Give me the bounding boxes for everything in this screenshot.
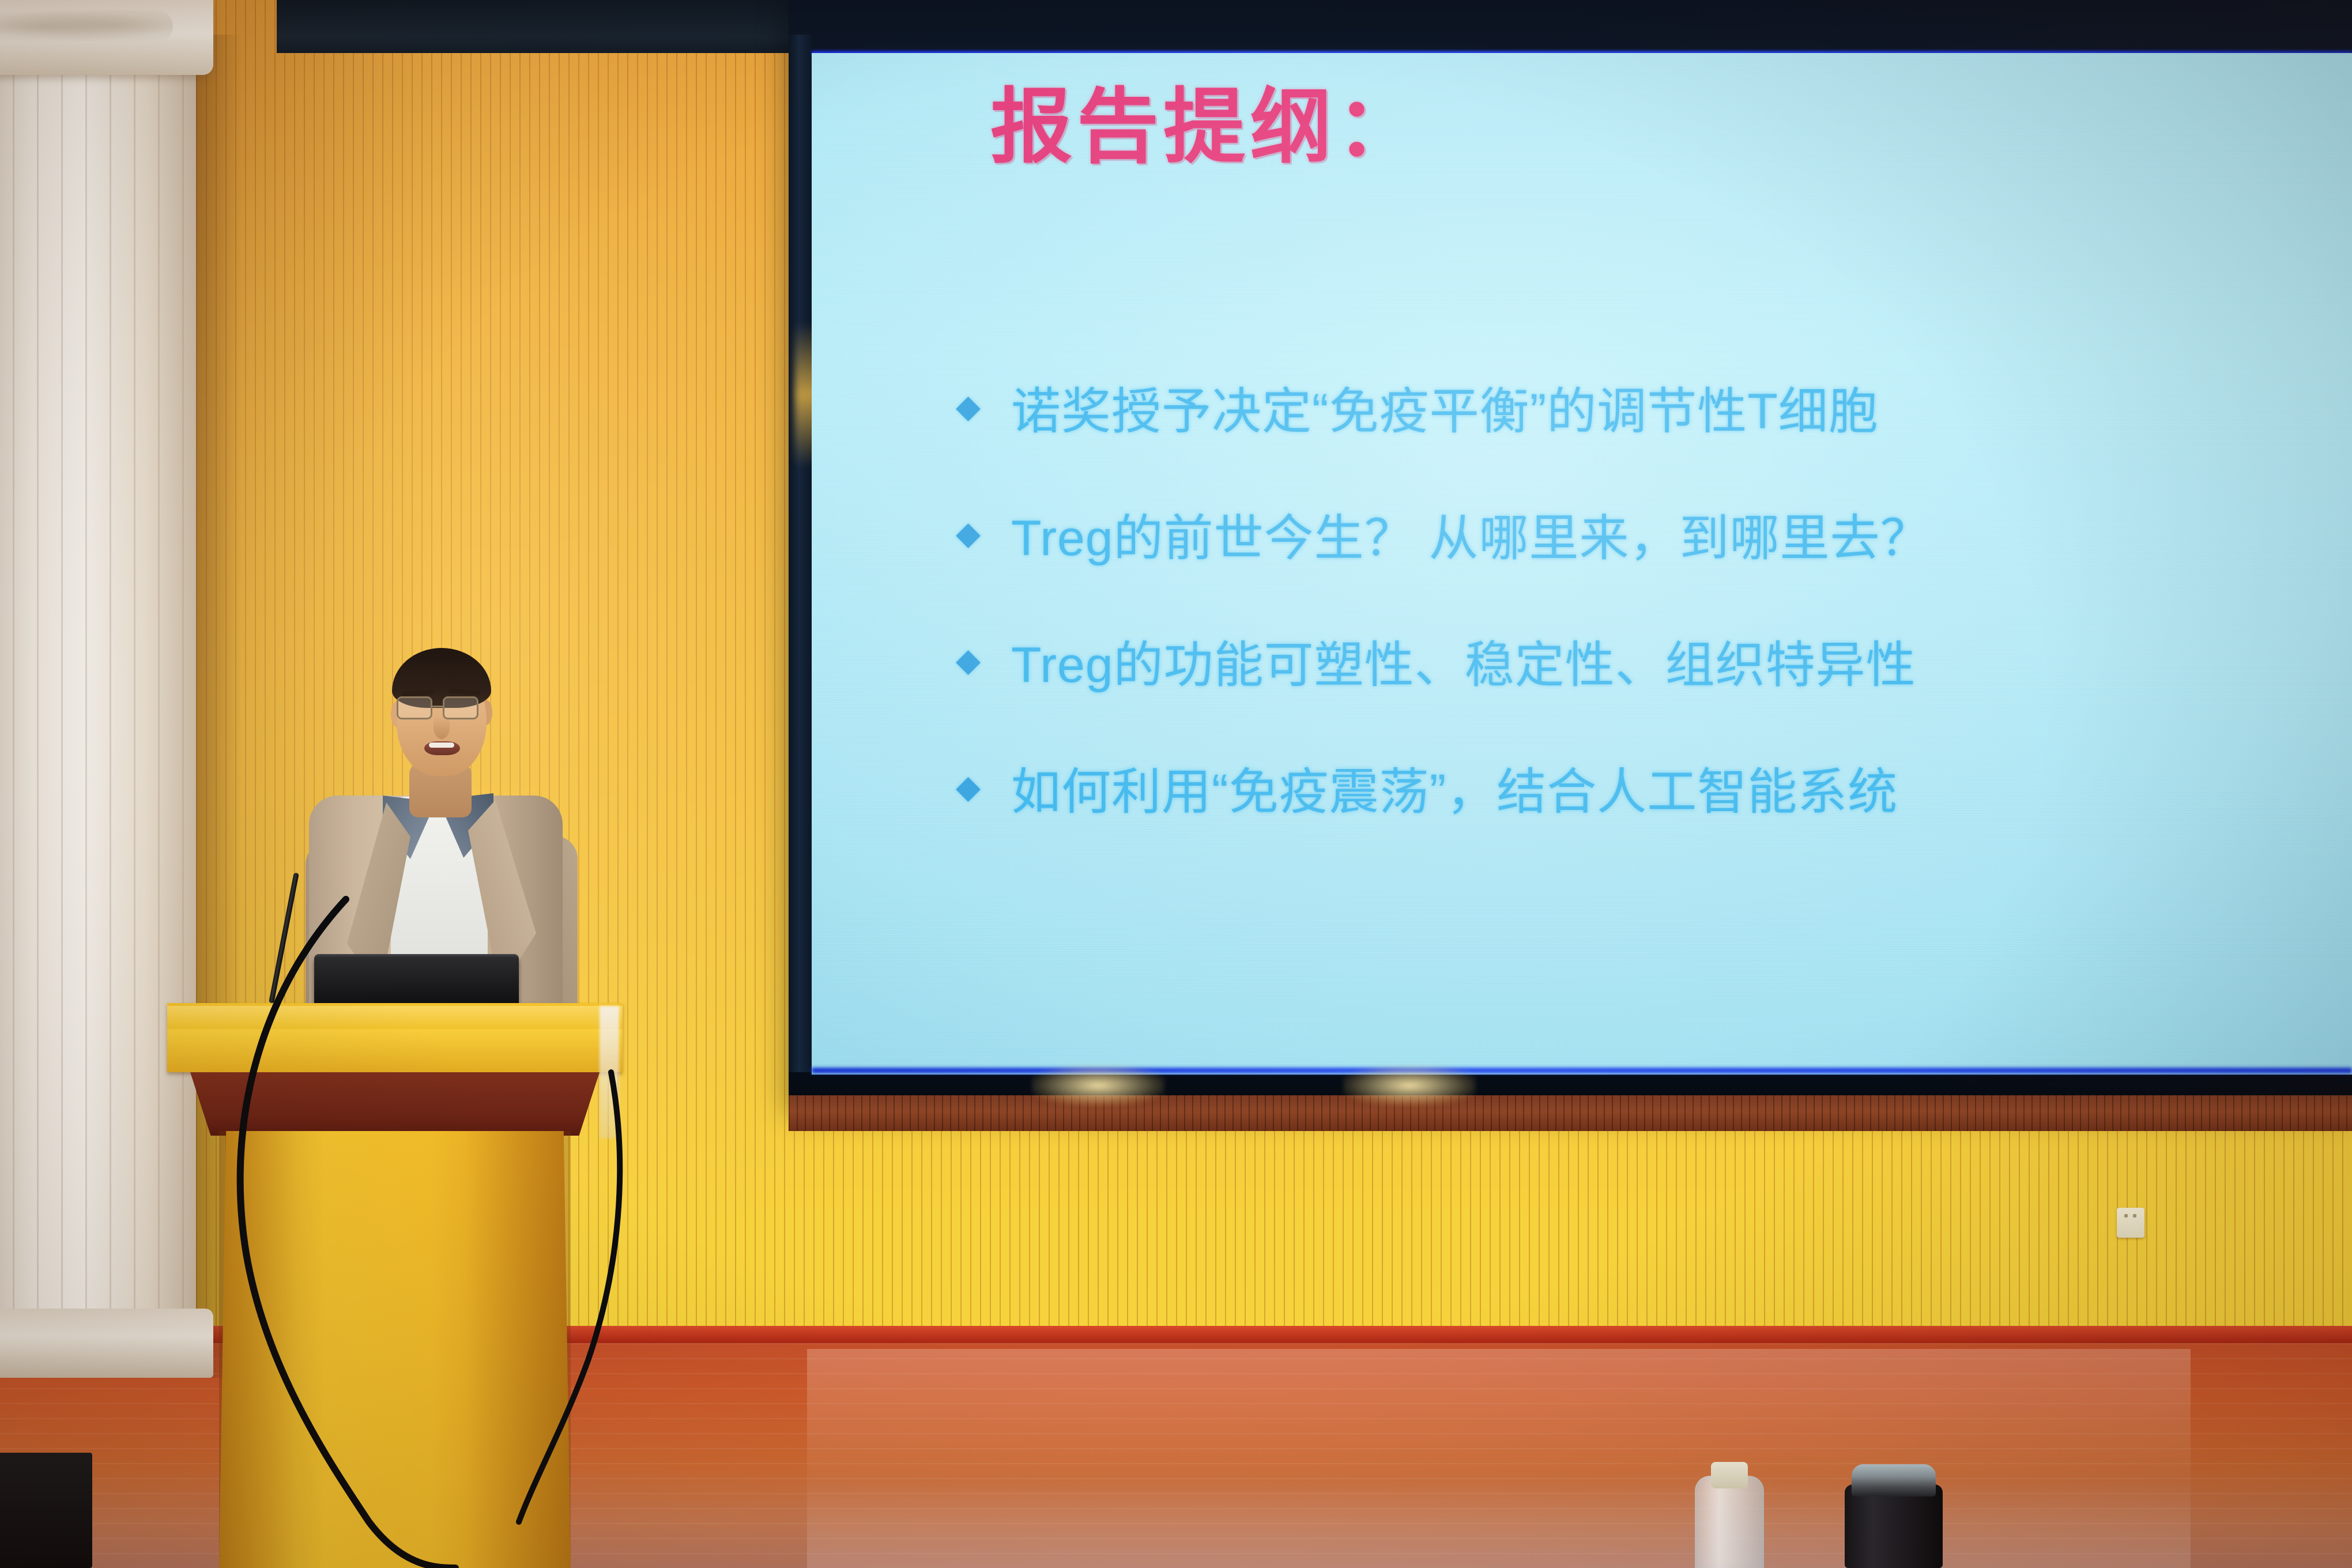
- podium-edge-highlight: [600, 1006, 619, 1139]
- ledge-spotlight: [1032, 1065, 1164, 1106]
- column-base: [0, 1309, 213, 1378]
- presenter-mouth: [424, 741, 460, 755]
- list-item: ◆ 诺奖授予决定“免疫平衡”的调节性T细胞: [956, 376, 2352, 437]
- podium-top-face: [167, 1006, 623, 1029]
- ledge-spotlight: [1343, 1065, 1476, 1106]
- bullet-text: 如何利用“免疫震荡”，结合人工智能系统: [1011, 751, 1898, 823]
- thermos-cap: [1852, 1464, 1936, 1497]
- diamond-bullet-icon: ◆: [956, 390, 1011, 423]
- water-bottle[interactable]: [1695, 1476, 1764, 1568]
- slide-bullet-list: ◆ 诺奖授予决定“免疫平衡”的调节性T细胞 ◆ Treg的前世今生？ 从哪里来，…: [956, 376, 2352, 883]
- diamond-bullet-icon: ◆: [956, 771, 1011, 803]
- list-item: ◆ Treg的功能可塑性、稳定性、组织特异性: [956, 630, 2352, 691]
- podium-dark-band: [190, 1072, 600, 1136]
- slide-display[interactable]: 报告提纲： ◆ 诺奖授予决定“免疫平衡”的调节性T细胞 ◆ Treg的前世今生？…: [812, 53, 2352, 1075]
- slide-title: 报告提纲：: [990, 60, 1423, 179]
- water-bottle-cap: [1711, 1462, 1748, 1488]
- wall-power-outlet-icon: [2117, 1208, 2144, 1238]
- laptop-on-podium[interactable]: [314, 957, 519, 1008]
- list-item: ◆ 如何利用“免疫震荡”，结合人工智能系统: [956, 756, 2352, 817]
- eyeglass-lens-left: [397, 696, 432, 719]
- thermos-flask[interactable]: [1845, 1484, 1943, 1568]
- column-capital: [0, 0, 213, 75]
- lecture-hall-photo: 系 统 科 学 系 系 列 讲 座 报告提纲： ◆ 诺奖授予决定“免疫平衡”的调…: [0, 0, 2352, 1568]
- podium-body-shading: [219, 1131, 571, 1568]
- list-item: ◆ Treg的前世今生？ 从哪里来，到哪里去？: [956, 503, 2352, 564]
- presenter-nose: [434, 716, 450, 739]
- eyeglass-bridge: [432, 706, 444, 707]
- screen-ledge-texture: [789, 1095, 2352, 1131]
- bullet-text: Treg的前世今生？ 从哪里来，到哪里去？: [1011, 497, 1931, 570]
- bullet-text: 诺奖授予决定“免疫平衡”的调节性T细胞: [1011, 371, 1879, 443]
- diamond-bullet-icon: ◆: [956, 517, 1011, 549]
- diamond-bullet-icon: ◆: [956, 644, 1011, 676]
- bullet-text: Treg的功能可塑性、稳定性、组织特异性: [1011, 624, 1916, 696]
- stage-monitor-speaker: [0, 1453, 92, 1568]
- classical-column: [0, 35, 196, 1360]
